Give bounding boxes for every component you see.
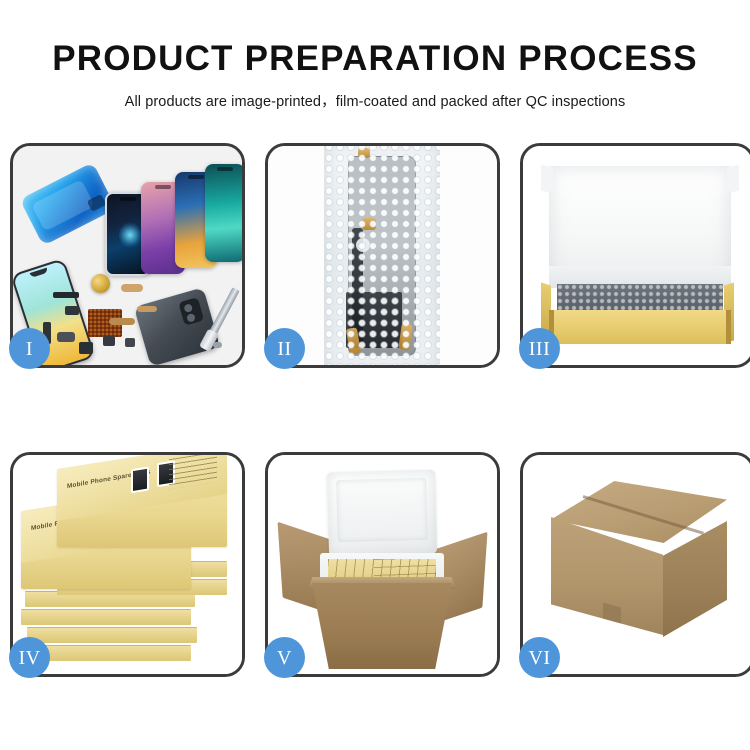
product-preparation-infographic: PRODUCT PREPARATION PROCESS All products… — [0, 0, 750, 750]
step-4-image: Mobile Phone Spare Parts Mobile Phone Sp… — [13, 455, 242, 674]
step-badge-2: II — [264, 328, 305, 369]
step-badge-3: III — [519, 328, 560, 369]
process-step-panel-5[interactable]: V — [265, 452, 500, 677]
spare-part-icon — [137, 306, 157, 312]
carton-body-icon — [312, 583, 452, 669]
process-step-panel-4[interactable]: Mobile Phone Spare Parts Mobile Phone Sp… — [10, 452, 245, 677]
notch-icon — [188, 175, 204, 179]
step-5-image — [268, 455, 497, 674]
notch-icon — [120, 197, 136, 201]
step-3-image — [523, 146, 750, 365]
phone-back-housing-icon — [134, 287, 220, 365]
box-stack-icon: Mobile Phone Spare Parts Mobile Phone Sp… — [21, 469, 241, 669]
spare-part-icon — [65, 306, 79, 315]
bubble-texture — [324, 146, 440, 365]
step-2-image — [268, 146, 497, 365]
header: PRODUCT PREPARATION PROCESS All products… — [0, 40, 750, 111]
spare-part-icon — [109, 318, 135, 325]
carton-side-face-icon — [663, 521, 727, 637]
step-badge-4: IV — [9, 637, 50, 678]
step-badge-5: V — [264, 637, 305, 678]
stacked-box-slab — [21, 609, 191, 625]
spare-part-icon — [125, 338, 135, 347]
spare-part-icon — [57, 332, 75, 342]
step-6-image — [523, 455, 750, 674]
spare-part-icon — [213, 342, 222, 348]
bubble-wrap-package-icon — [324, 146, 440, 365]
phone-screen-icon-4 — [205, 164, 242, 262]
spare-part-icon — [79, 342, 93, 354]
retail-box-front: Mobile Phone Spare Parts — [57, 469, 227, 547]
process-step-grid: I II — [10, 143, 745, 678]
spare-part-icon — [121, 284, 143, 292]
process-step-panel-2[interactable]: II — [265, 143, 500, 368]
process-step-panel-3[interactable]: III — [520, 143, 750, 368]
notch-icon — [155, 185, 171, 189]
bubble-wrapped-contents-icon — [557, 284, 723, 312]
notch-icon — [217, 167, 233, 171]
spare-part-icon — [53, 292, 79, 298]
page-subtitle: All products are image-printed，film-coat… — [0, 90, 750, 111]
retail-box-lid: Mobile Phone Spare Parts — [57, 455, 227, 521]
screwdriver-icon — [208, 287, 239, 337]
stacked-box-slab — [27, 627, 197, 643]
yellow-box-front-icon — [549, 310, 731, 344]
foam-box-lid-icon — [327, 470, 437, 557]
box-art-swatch — [131, 466, 149, 493]
page-title: PRODUCT PREPARATION PROCESS — [0, 40, 750, 79]
phone-screen-fan — [101, 162, 241, 277]
process-step-panel-6[interactable]: VI — [520, 452, 750, 677]
coil-part-icon — [91, 274, 110, 293]
step-badge-1: I — [9, 328, 50, 369]
carton-tape-icon — [603, 662, 621, 674]
step-1-image — [13, 146, 242, 365]
step-badge-6: VI — [519, 637, 560, 678]
process-step-panel-1[interactable]: I — [10, 143, 245, 368]
carton-tape-icon — [603, 602, 621, 629]
spare-part-icon — [103, 336, 115, 346]
box-spec-lines — [169, 455, 217, 489]
